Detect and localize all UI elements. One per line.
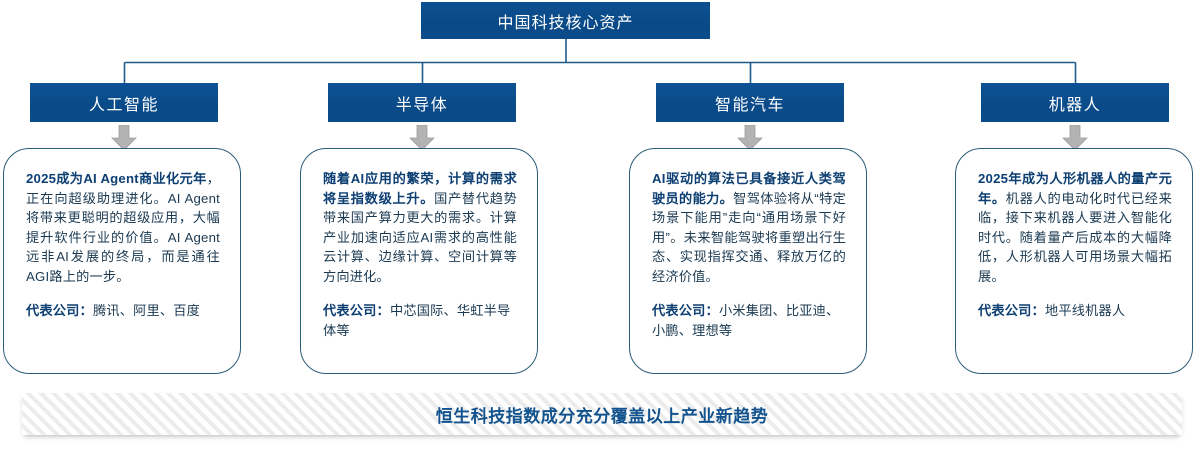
card-representative-companies: 代表公司：地平线机器人 xyxy=(978,301,1172,321)
card-lead-tail: 年 xyxy=(193,171,207,186)
card-text: 机器人的电动化时代已经来临，接下来机器人要进入智能化时代。随着量产后成本的大幅降… xyxy=(978,191,1172,284)
card-representative-companies: 代表公司：腾讯、阿里、百度 xyxy=(26,301,220,321)
root-node-label: 中国科技核心资产 xyxy=(497,9,633,33)
category-header-label: 半导体 xyxy=(396,91,449,115)
category-header-robotics: 机器人 xyxy=(981,83,1169,122)
card-body: AI驱动的算法已具备接近人类驾驶员的能力。智驾体验将从“特定场景下能用”走向“通… xyxy=(652,169,846,286)
rep-label: 代表公司： xyxy=(978,303,1045,318)
card-body: 随着AI应用的繁荣，计算的需求将呈指数级上升。国产替代趋势带来国产算力更大的需求… xyxy=(323,169,517,286)
diagram-canvas: 中国科技核心资产 人工智能 半导体 智能汽车 机器人 xyxy=(0,0,1204,455)
card-lead: 2025成为AI Agent商业化元 xyxy=(26,171,193,186)
rep-value: 腾讯、阿里、百度 xyxy=(93,303,200,318)
card-representative-companies: 代表公司：中芯国际、华虹半导体等 xyxy=(323,301,517,340)
category-header-smart-vehicle: 智能汽车 xyxy=(656,83,844,122)
rep-label: 代表公司： xyxy=(26,303,93,318)
root-node: 中国科技核心资产 xyxy=(421,2,710,39)
category-header-label: 人工智能 xyxy=(89,91,159,115)
category-header-label: 智能汽车 xyxy=(715,91,785,115)
card-lead: 随着AI应用的繁荣，计算的 xyxy=(323,171,490,186)
content-card-ai: 2025成为AI Agent商业化元年，正在向超级助理进化。AI Agent将带… xyxy=(3,148,241,374)
content-card-robotics: 2025年成为人形机器人的量产元年。机器人的电动化时代已经来临，接下来机器人要进… xyxy=(955,148,1193,374)
category-header-label: 机器人 xyxy=(1049,91,1102,115)
rep-label: 代表公司： xyxy=(323,303,390,318)
card-body: 2025成为AI Agent商业化元年，正在向超级助理进化。AI Agent将带… xyxy=(26,169,220,286)
content-card-smart-vehicle: AI驱动的算法已具备接近人类驾驶员的能力。智驾体验将从“特定场景下能用”走向“通… xyxy=(629,148,867,374)
content-card-semiconductor: 随着AI应用的繁荣，计算的需求将呈指数级上升。国产替代趋势带来国产算力更大的需求… xyxy=(300,148,538,374)
summary-banner-text: 恒生科技指数成分充分覆盖以上产业新趋势 xyxy=(436,402,769,427)
rep-value: 地平线机器人 xyxy=(1045,303,1125,318)
card-representative-companies: 代表公司：小米集团、比亚迪、小鹏、理想等 xyxy=(652,301,846,340)
category-header-ai: 人工智能 xyxy=(30,83,218,122)
card-text: ，正在向超级助理进化。AI Agent将带来更聪明的超级应用，大幅提升软件行业的… xyxy=(26,171,220,284)
rep-label: 代表公司： xyxy=(652,303,719,318)
summary-banner: 恒生科技指数成分充分覆盖以上产业新趋势 xyxy=(22,393,1182,435)
card-lead: 2025年成为人形机器人的量 xyxy=(978,171,1145,186)
card-body: 2025年成为人形机器人的量产元年。机器人的电动化时代已经来临，接下来机器人要进… xyxy=(978,169,1172,286)
category-header-semiconductor: 半导体 xyxy=(328,83,516,122)
card-lead: AI驱动的算法已具备接近人 xyxy=(652,171,819,186)
